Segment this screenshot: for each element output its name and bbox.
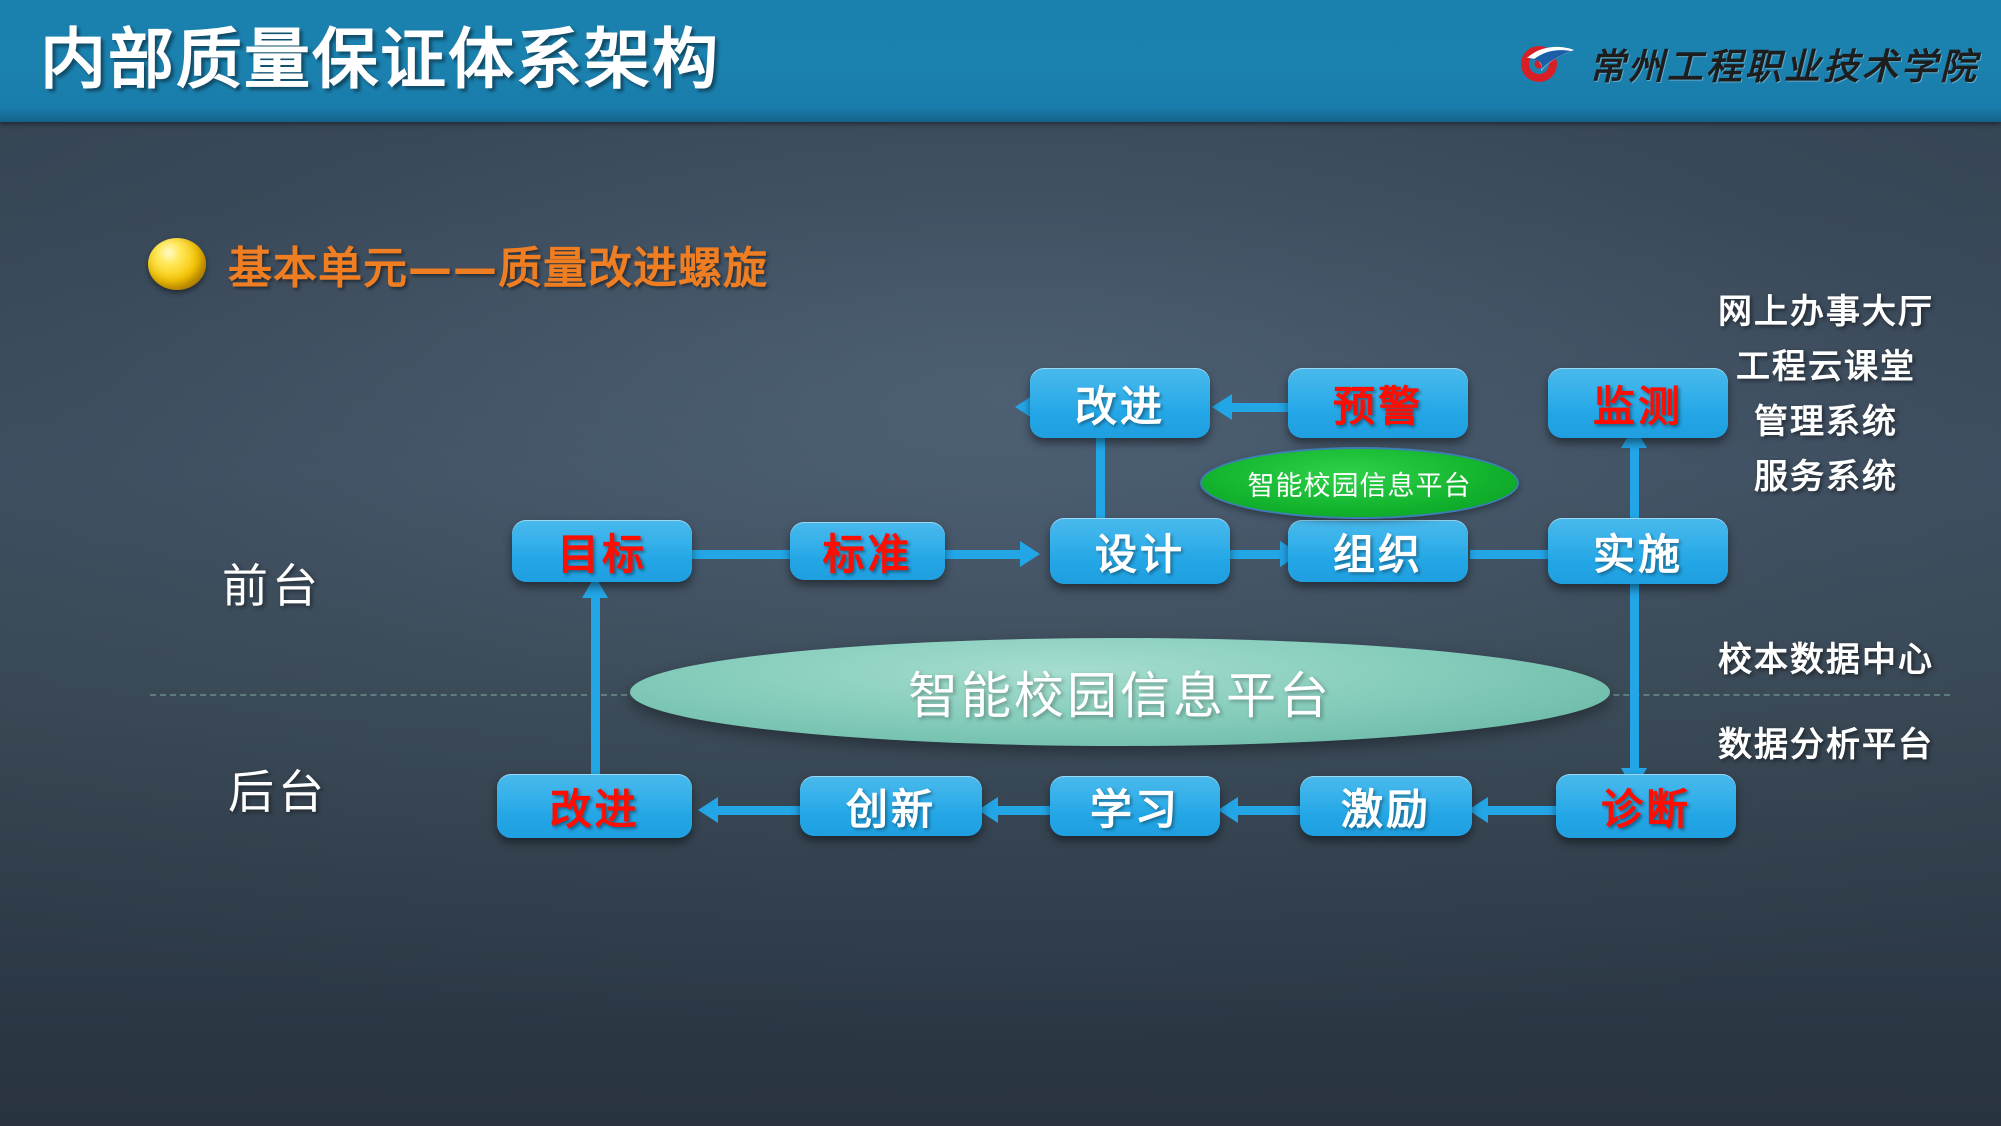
- slide-canvas: 内部质量保证体系架构 常州工程职业技术学院 基本单元——质量改进螺旋 智能校园信…: [0, 0, 2001, 1126]
- gold-sphere-bullet-icon: [148, 238, 206, 290]
- arrowhead-jiance-to-yujing: [1212, 394, 1232, 420]
- node-bot-2[interactable]: 创新: [800, 776, 982, 836]
- right-systems-item-4: 服务系统: [1681, 450, 1971, 505]
- slide-header-bar: 内部质量保证体系架构 常州工程职业技术学院: [0, 0, 2001, 122]
- label-front-office: 前台: [222, 550, 322, 616]
- section-bullet: 基本单元——质量改进螺旋: [148, 232, 768, 296]
- label-back-office: 后台: [228, 756, 328, 822]
- node-mid-4[interactable]: 组织: [1288, 520, 1468, 582]
- swoosh-emblem-icon: [1519, 41, 1575, 87]
- connector-gaijin-to-sheji: [1096, 437, 1105, 529]
- right-data-list: 校本数据中心 数据分析平台: [1681, 618, 1971, 788]
- institution-logo: 常州工程职业技术学院: [1519, 38, 1979, 90]
- node-mid-2[interactable]: 标准: [790, 522, 945, 580]
- right-systems-item-3: 管理系统: [1681, 395, 1971, 450]
- section-bullet-label: 基本单元——质量改进螺旋: [228, 232, 768, 296]
- right-data-item-1: 校本数据中心: [1681, 618, 1971, 703]
- arrowhead-biaozhun-to-sheji: [1020, 541, 1040, 567]
- node-mid-3[interactable]: 设计: [1050, 518, 1230, 584]
- arrowhead-jili-to-xuexi: [1218, 797, 1238, 823]
- node-mid-5[interactable]: 实施: [1548, 518, 1728, 584]
- node-mid-1[interactable]: 目标: [512, 520, 692, 582]
- node-bot-3[interactable]: 学习: [1050, 776, 1220, 836]
- connector-zuzhi-to-shishi: [1470, 550, 1558, 559]
- page-title: 内部质量保证体系架构: [40, 8, 720, 112]
- right-data-item-2: 数据分析平台: [1681, 703, 1971, 788]
- connector-shishi-to-zhenduan: [1630, 578, 1639, 774]
- institution-name: 常州工程职业技术学院: [1589, 38, 1979, 90]
- connector-sheji-to-zuzhi: [1222, 550, 1284, 559]
- platform-ellipse-large: 智能校园信息平台: [630, 638, 1610, 746]
- right-systems-item-1: 网上办事大厅: [1681, 285, 1971, 340]
- right-systems-list: 网上办事大厅 工程云课堂 管理系统 服务系统: [1681, 285, 1971, 505]
- right-systems-item-2: 工程云课堂: [1681, 340, 1971, 395]
- node-bot-4[interactable]: 激励: [1300, 776, 1472, 836]
- connector-mubiao-to-biaozhun: [690, 550, 794, 559]
- connector-gaijin-to-mubiao: [591, 586, 600, 778]
- node-top-2[interactable]: 预警: [1288, 368, 1468, 438]
- platform-ellipse-small: 智能校园信息平台: [1200, 447, 1519, 519]
- node-bot-1[interactable]: 改进: [497, 774, 692, 838]
- node-top-1[interactable]: 改进: [1030, 368, 1210, 438]
- connector-shishi-to-jiance: [1630, 437, 1639, 527]
- arrowhead-chuangxin-to-gaijin: [698, 797, 718, 823]
